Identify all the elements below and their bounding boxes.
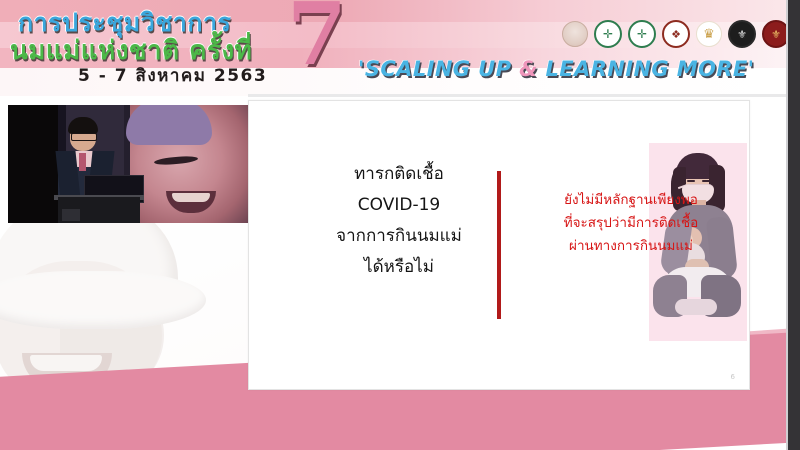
conference-tagline: 'SCALING UP & LEARNING MORE'	[358, 57, 754, 81]
royal-seal-logo	[562, 21, 588, 47]
tagline-ampersand: &	[519, 57, 538, 81]
tagline-pre: 'SCALING UP	[358, 57, 519, 81]
health-department-logo: ✛	[628, 20, 656, 48]
speaker-presentation-video[interactable]	[8, 105, 248, 223]
answer-line-2: ที่จะสรุปว่ามีการติดเชื้อ	[507, 212, 750, 235]
question-line-3: จากการกินนมแม่	[294, 221, 504, 252]
screen-baby-teeth	[172, 193, 210, 202]
edition-number: 7	[287, 0, 347, 78]
answer-line-3: ผ่านทางการกินนมแม่	[507, 235, 750, 258]
thai-pediatric-logo: ❖	[662, 20, 690, 48]
screenshot-root: 7 การประชุมวิชาการ นมแม่แห่งชาติ ครั้งที…	[0, 0, 800, 450]
question-line-2: COVID-19	[294, 190, 504, 221]
sponsor-logo-strip: ✛ ✛ ❖ ♛ ⚜ ⚜ สสสThai Health	[562, 20, 788, 48]
red-emblem-logo: ⚜	[762, 20, 788, 48]
mother-eye-left	[687, 180, 695, 182]
conference-date: 5 - 7 สิงหาคม 2563	[78, 62, 267, 89]
answer-line-1: ยังไม่มีหลักฐานเพียงพอ	[507, 189, 750, 212]
speaker-hair	[68, 117, 98, 134]
speaker-glasses	[71, 133, 97, 141]
mother-eye-right	[702, 180, 710, 182]
answer-text-block: ยังไม่มีหลักฐานเพียงพอ ที่จะสรุปว่ามีการ…	[507, 189, 750, 258]
royal-garuda-logo: ♛	[696, 21, 722, 47]
mother-foot	[675, 299, 717, 315]
black-emblem-logo: ⚜	[728, 20, 756, 48]
question-text-block: ทารกติดเชื้อ COVID-19 จากการกินนมแม่ ได้…	[294, 159, 504, 283]
slide-content-panel: ทารกติดเชื้อ COVID-19 จากการกินนมแม่ ได้…	[248, 100, 750, 390]
right-letterbox-edge	[788, 0, 800, 450]
slide-page-number: 6	[731, 373, 735, 381]
podium-panel	[62, 209, 80, 221]
presentation-slide: 7 การประชุมวิชาการ นมแม่แห่งชาติ ครั้งที…	[0, 0, 788, 450]
header-underline	[248, 94, 788, 97]
vertical-red-divider	[497, 171, 501, 319]
speaker-tie	[79, 153, 86, 171]
question-line-4: ได้หรือไม่	[294, 252, 504, 283]
ministry-health-logo: ✛	[594, 20, 622, 48]
stage-wall-left	[8, 105, 62, 223]
tagline-post: LEARNING MORE'	[538, 57, 755, 81]
question-line-1: ทารกติดเชื้อ	[294, 159, 504, 190]
screen-baby-hat	[126, 105, 212, 145]
